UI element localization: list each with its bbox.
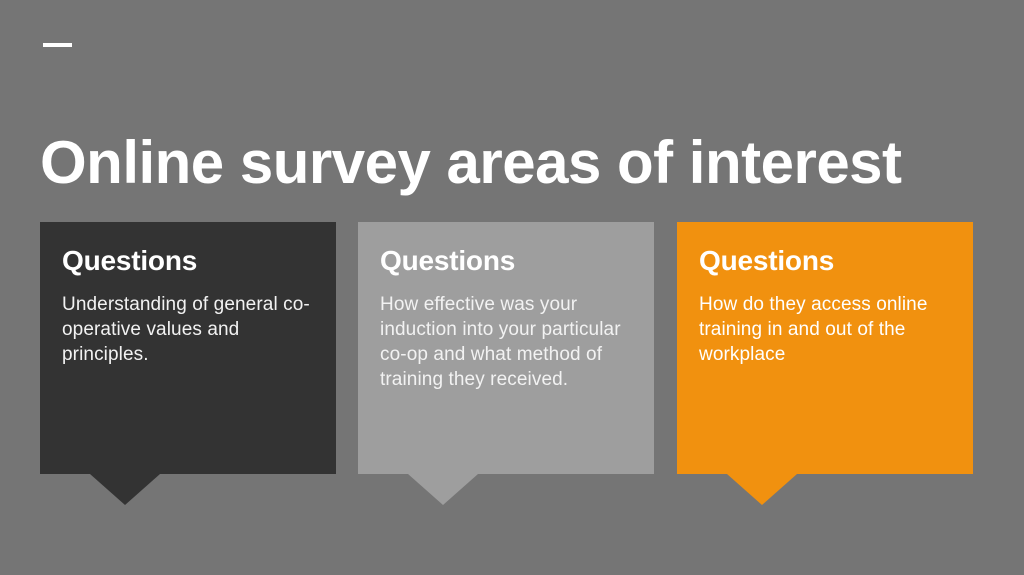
callout-tail-2 [408,474,478,505]
callout-tail-3 [727,474,797,505]
callout-tail-1 [90,474,160,505]
card-body-2: How effective was your induction into yo… [380,292,632,392]
card-heading-3: Questions [699,244,951,278]
accent-dash-icon [43,43,72,47]
card-body-3: How do they access online training in an… [699,292,951,367]
card-heading-2: Questions [380,244,632,278]
card-body-1: Understanding of general co-operative va… [62,292,314,367]
slide-canvas: Online survey areas of interest Question… [0,0,1024,575]
page-title: Online survey areas of interest [40,128,980,198]
callout-cards-row: Questions Understanding of general co-op… [40,222,984,512]
callout-card-3: Questions How do they access online trai… [677,222,973,474]
card-heading-1: Questions [62,244,314,278]
callout-card-1: Questions Understanding of general co-op… [40,222,336,474]
callout-card-2: Questions How effective was your inducti… [358,222,654,474]
